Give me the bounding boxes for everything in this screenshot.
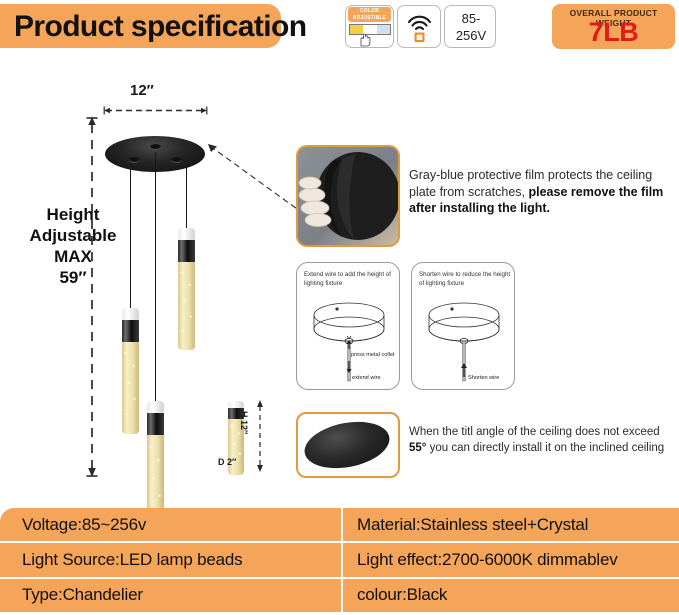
swatch-cool bbox=[377, 25, 390, 34]
header-bar: Product specification COLOR ADJUSTIBLE 8… bbox=[0, 0, 679, 56]
callout-leader-line bbox=[208, 144, 308, 219]
tilt-angle-text: When the titl angle of the ceiling does … bbox=[409, 424, 679, 456]
rod-diameter-label: D 2″ bbox=[218, 457, 236, 467]
voltage-icon: 85- 256V bbox=[444, 5, 496, 48]
weight-value: 7LB bbox=[552, 17, 675, 48]
pendant-crystal-rod bbox=[178, 262, 195, 350]
voltage-line2: 256V bbox=[445, 27, 497, 44]
width-dimension-line bbox=[103, 106, 208, 115]
height-dimension-arrow bbox=[86, 116, 98, 478]
pendant-crystal-rod bbox=[122, 342, 139, 434]
cord-right bbox=[186, 166, 187, 234]
height-line-3: MAX bbox=[8, 246, 138, 267]
specification-table: Voltage:85~256v Material:Stainless steel… bbox=[0, 508, 679, 612]
spec-cell-material: Material:Stainless steel+Crystal bbox=[343, 508, 679, 541]
shorten-wire-panel: Shorten wire to reduce the height of lig… bbox=[411, 262, 515, 390]
color-adjustable-icon: COLOR ADJUSTIBLE bbox=[345, 5, 394, 48]
color-adjustable-line1: COLOR bbox=[348, 8, 391, 15]
height-line-4: 59″ bbox=[8, 267, 138, 288]
height-line-1: Height bbox=[8, 204, 138, 225]
protective-film-text: Gray-blue protective film protects the c… bbox=[409, 167, 675, 217]
pendant-collar bbox=[147, 413, 164, 435]
rod-height-dimension-line bbox=[248, 396, 288, 476]
spec-cell-light-source: Light Source:LED lamp beads bbox=[0, 543, 341, 576]
width-dimension-label: 12″ bbox=[130, 82, 154, 99]
pendant-cap bbox=[147, 401, 164, 413]
color-adjustable-caption: COLOR ADJUSTIBLE bbox=[348, 7, 391, 22]
title-badge: Product specification bbox=[0, 4, 281, 48]
plate-outlet-left bbox=[129, 157, 140, 163]
pendant-rod-left bbox=[122, 308, 139, 434]
voltage-icon-text: 85- 256V bbox=[445, 10, 497, 44]
shorten-wire-illustration bbox=[416, 291, 512, 387]
extend-wire-note-collet: press metal collet bbox=[351, 352, 395, 358]
tilt-angle-value: 55° bbox=[409, 442, 426, 454]
pointing-hand-icon bbox=[356, 31, 373, 47]
color-adjustable-line2: ADJUSTIBLE bbox=[348, 15, 391, 22]
plate-outlet-right bbox=[171, 157, 182, 163]
film-peel-illustration bbox=[298, 147, 398, 245]
height-line-2: Adjustable bbox=[8, 225, 138, 246]
spec-cell-type: Type:Chandelier bbox=[0, 579, 341, 612]
voltage-line1: 85- bbox=[445, 10, 497, 27]
page-title: Product specification bbox=[14, 7, 276, 47]
pendant-cap bbox=[122, 308, 139, 320]
tilt-text-part1: When the titl angle of the ceiling does … bbox=[409, 426, 660, 438]
weight-badge: OVERALL PRODUCT WEIGHT 7LB bbox=[552, 4, 675, 49]
spec-cell-voltage: Voltage:85~256v bbox=[0, 508, 341, 541]
rod-height-label: H 12″ bbox=[239, 411, 249, 434]
extend-wire-panel: Extend wire to add the height of lightin… bbox=[296, 262, 400, 390]
extend-wire-title: Extend wire to add the height of lightin… bbox=[304, 270, 396, 288]
remote-signal-glyph bbox=[406, 11, 433, 43]
pendant-cap bbox=[178, 228, 195, 240]
pendant-rod-right bbox=[178, 228, 195, 350]
pendant-collar bbox=[122, 320, 139, 342]
protective-film-panel: Gray-blue protective film protects the c… bbox=[296, 145, 679, 245]
tilt-angle-panel: When the titl angle of the ceiling does … bbox=[296, 412, 679, 484]
pendant-collar bbox=[178, 240, 195, 262]
cord-center bbox=[155, 152, 156, 407]
extend-wire-illustration bbox=[301, 291, 397, 387]
tilt-text-part2: you can directly install it on the incli… bbox=[426, 442, 664, 454]
protective-film-photo bbox=[296, 145, 400, 247]
height-adjustable-label: Height Adjustable MAX 59″ bbox=[8, 204, 138, 288]
tilted-plate-shape bbox=[301, 415, 394, 475]
ceiling-plate-photo bbox=[296, 412, 400, 478]
shorten-wire-title: Shorten wire to reduce the height of lig… bbox=[419, 270, 511, 288]
product-diagram: 12″ Height Adjusta bbox=[0, 56, 290, 496]
sample-cap bbox=[228, 401, 244, 408]
remote-control-icon bbox=[397, 5, 441, 48]
extend-wire-note-extend: extend wire bbox=[352, 375, 381, 381]
shorten-wire-note: Shorten wire bbox=[468, 375, 499, 381]
spec-cell-colour: colour:Black bbox=[343, 579, 679, 612]
plate-outlet-center bbox=[150, 144, 161, 150]
spec-cell-light-effect: Light effect:2700-6000K dimmablev bbox=[343, 543, 679, 576]
